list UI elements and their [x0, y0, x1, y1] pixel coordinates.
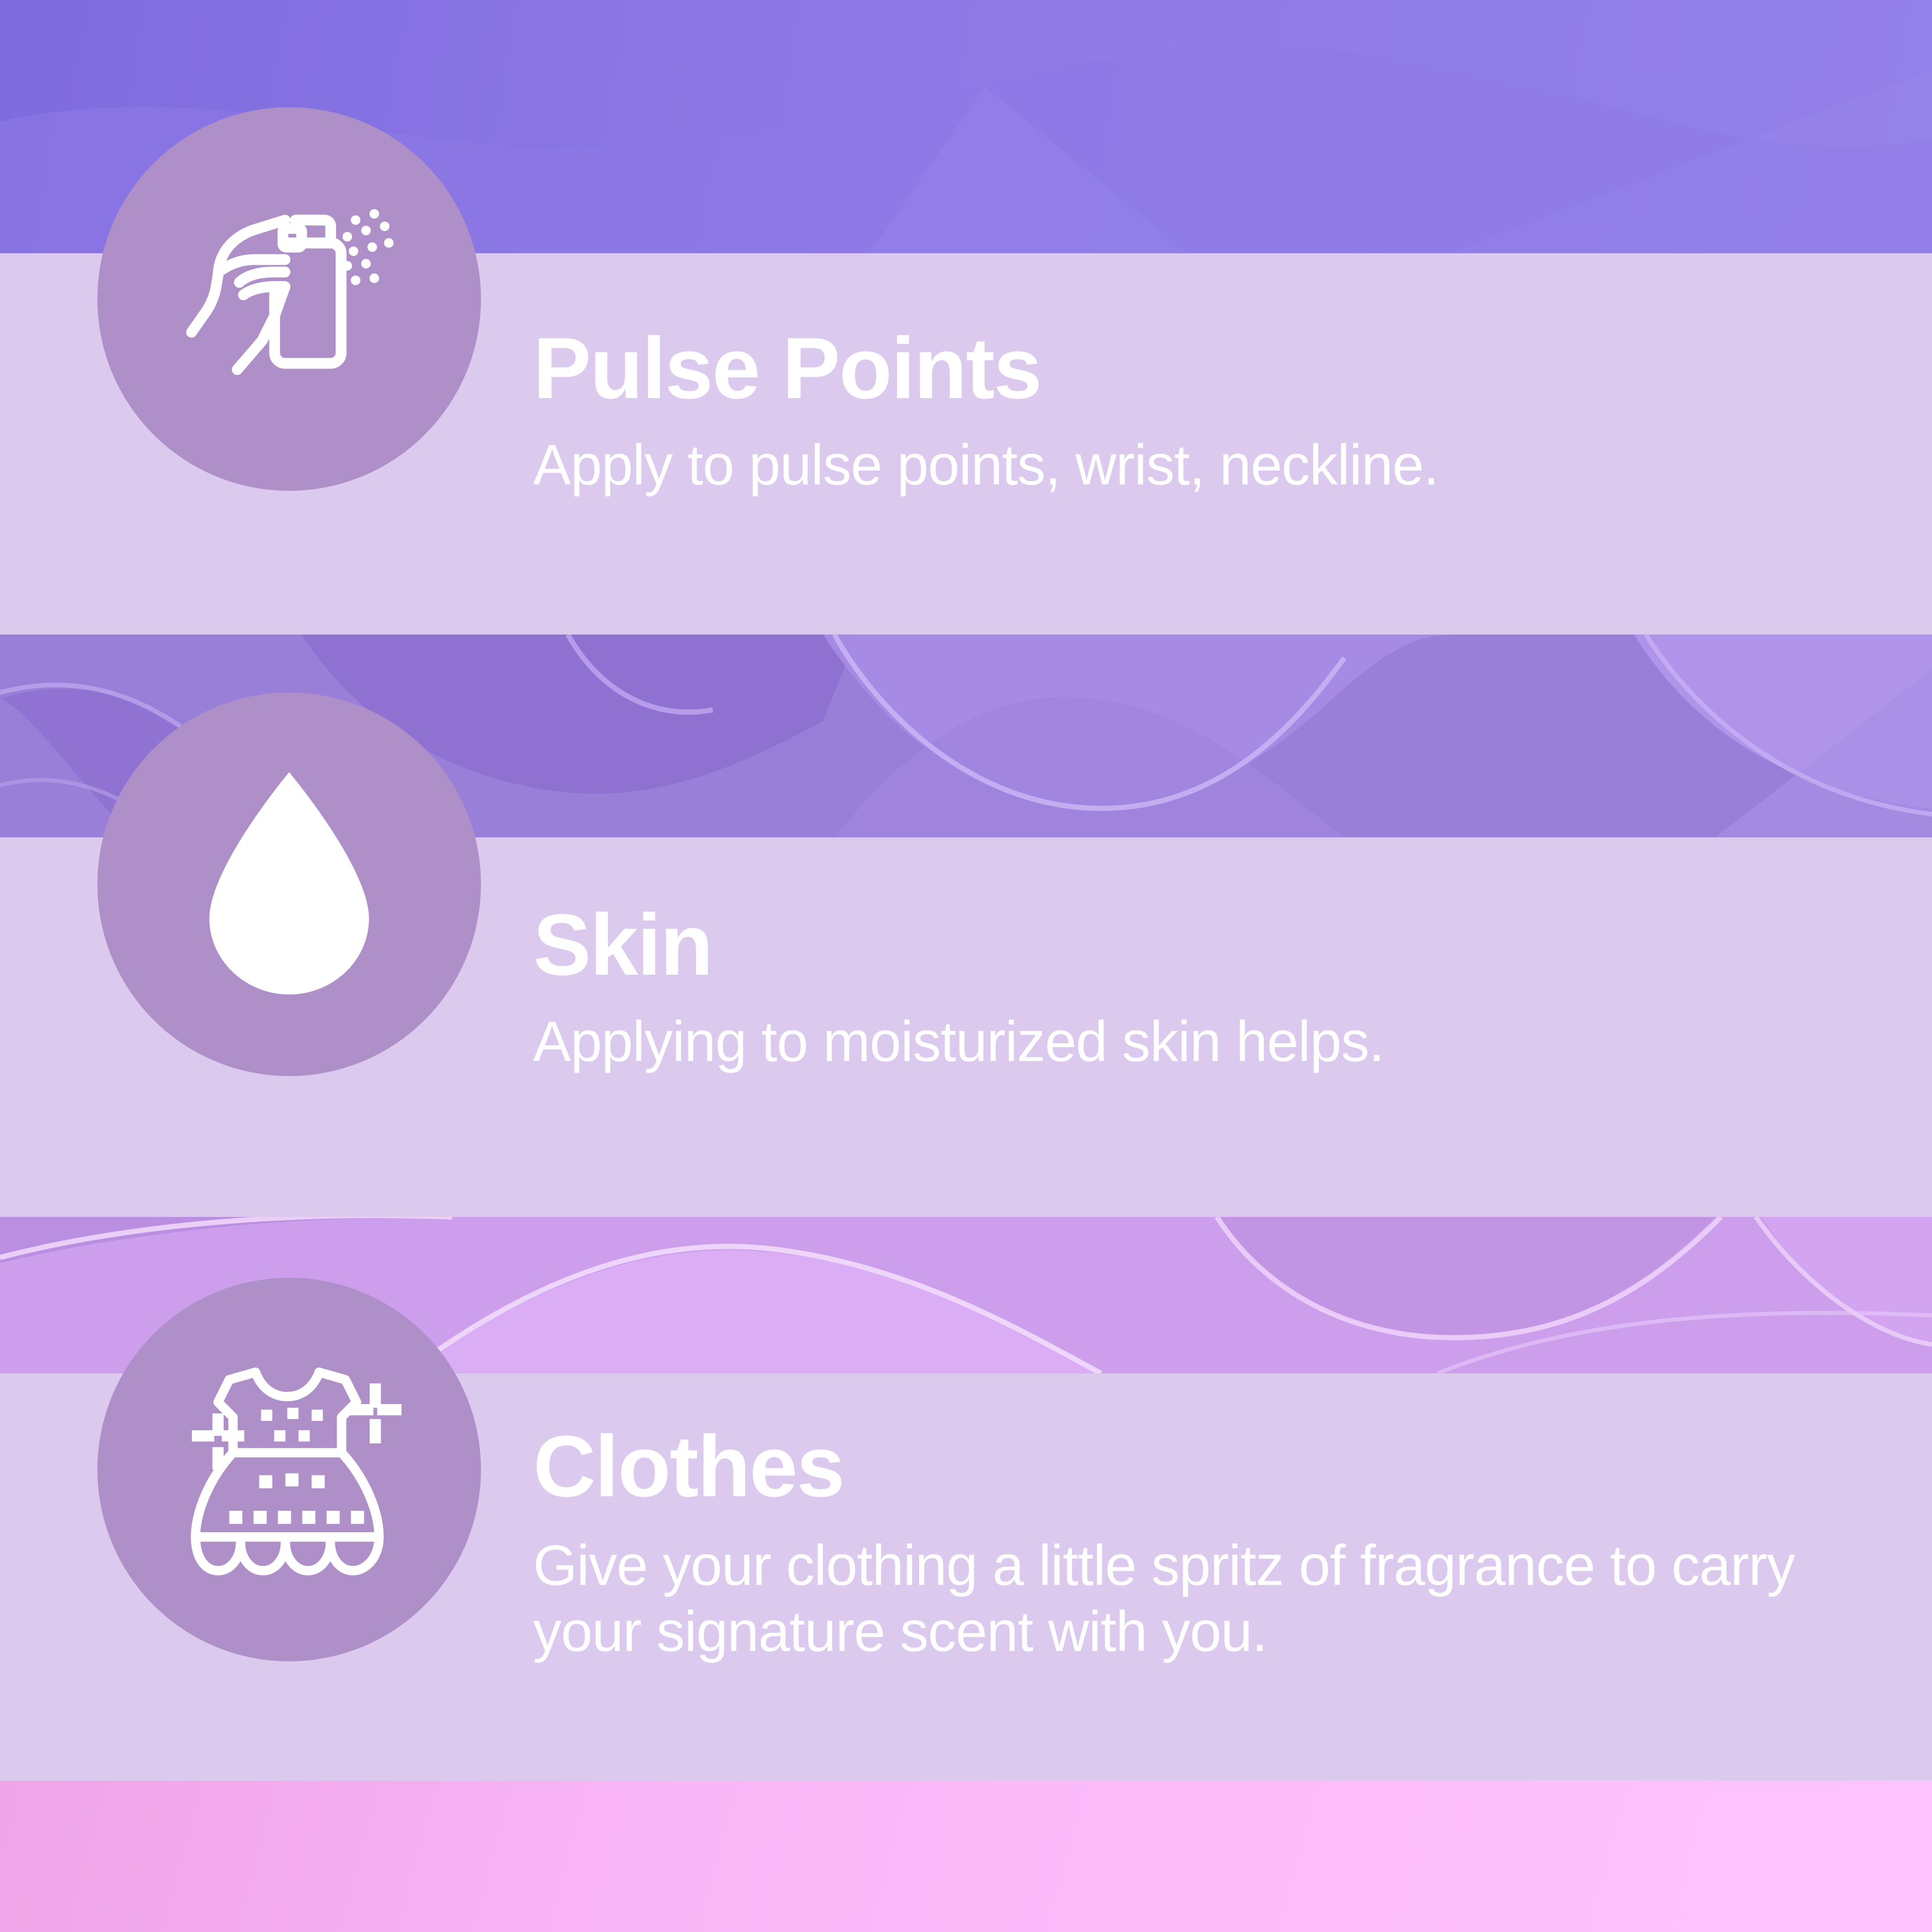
- bottom-gradient-band: [0, 1781, 1932, 1932]
- icon-circle-pulse-points: [97, 107, 481, 491]
- sparkling-dress-icon: [167, 1348, 411, 1591]
- fragrance-application-infographic: Pulse Points Apply to pulse points, wris…: [0, 0, 1932, 1932]
- section-text-clothes: Clothes Give your clothing a little spri…: [533, 1423, 1878, 1664]
- section-text-skin: Skin Applying to moisturized skin helps.: [533, 901, 1384, 1075]
- section-body: Give your clothing a little spritz of fr…: [533, 1533, 1878, 1664]
- section-headline: Pulse Points: [533, 325, 1438, 411]
- section-body: Apply to pulse points, wrist, neckline.: [533, 432, 1438, 498]
- icon-circle-clothes: [97, 1278, 481, 1661]
- water-droplet-icon: [194, 768, 385, 1000]
- icon-circle-skin: [97, 692, 481, 1076]
- spray-bottle-in-hand-icon: [165, 174, 414, 424]
- section-text-pulse-points: Pulse Points Apply to pulse points, wris…: [533, 325, 1438, 498]
- section-headline: Clothes: [533, 1423, 1878, 1510]
- section-headline: Skin: [533, 901, 1384, 988]
- section-body: Applying to moisturized skin helps.: [533, 1009, 1384, 1075]
